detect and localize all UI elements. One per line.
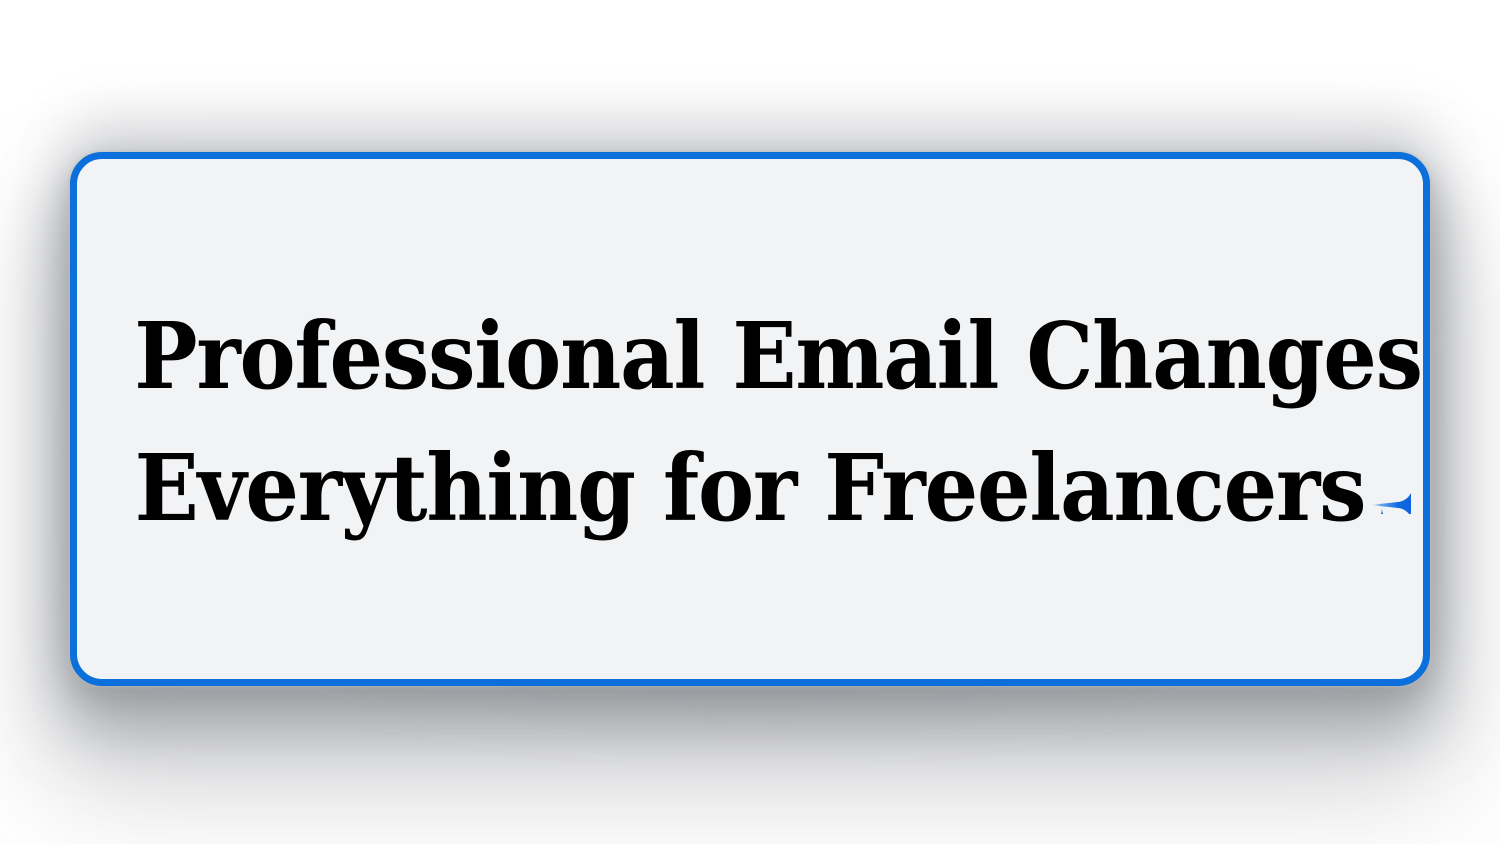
canvas: Professional Email Changes Everything fo… [0, 0, 1500, 844]
page-title: Professional Email Changes Everything fo… [134, 290, 1366, 555]
headline-line-1: Professional Email Changes [134, 290, 1366, 422]
card-content: Professional Email Changes Everything fo… [77, 159, 1423, 679]
headline-block: Professional Email Changes Everything fo… [77, 284, 1423, 555]
headline-line-2: Everything for Freelancers [134, 422, 1366, 554]
headline-card: Professional Email Changes Everything fo… [70, 152, 1430, 686]
